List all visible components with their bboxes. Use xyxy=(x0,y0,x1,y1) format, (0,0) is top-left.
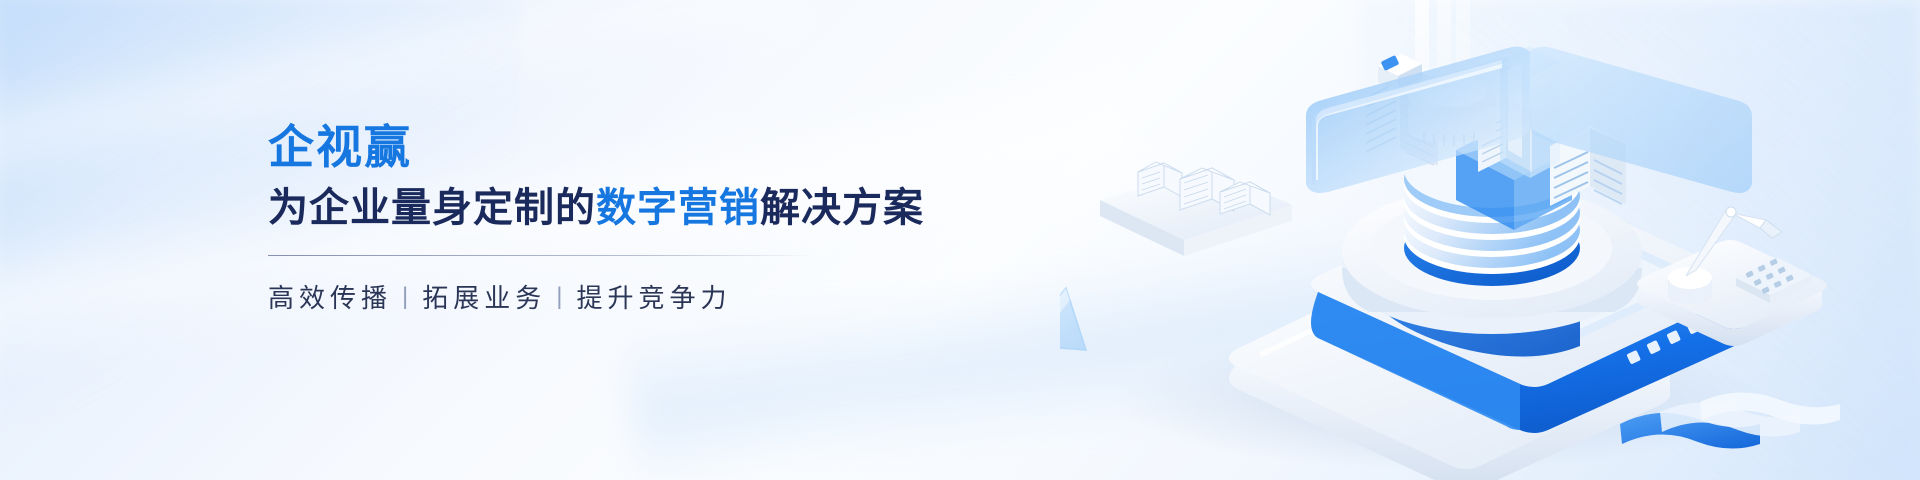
tagline-separator-2: | xyxy=(556,283,562,311)
hero-illustration xyxy=(1060,0,1920,480)
hero-banner: 企视赢 为企业量身定制的数字营销解决方案 高效传播 | 拓展业务 | 提升竞争力 xyxy=(0,0,1920,480)
headline-part-after: 解决方案 xyxy=(760,186,924,230)
tagline-item-3: 提升竞争力 xyxy=(577,278,732,315)
headline-part-before: 为企业量身定制的 xyxy=(268,186,596,230)
brand-title: 企视赢 xyxy=(268,120,968,175)
hero-copy: 企视赢 为企业量身定制的数字营销解决方案 高效传播 | 拓展业务 | 提升竞争力 xyxy=(268,120,968,315)
mini-city-block xyxy=(1100,162,1292,256)
tagline: 高效传播 | 拓展业务 | 提升竞争力 xyxy=(268,278,968,315)
headline-accent: 数字营销 xyxy=(596,186,760,230)
page-title: 为企业量身定制的数字营销解决方案 xyxy=(268,183,968,233)
tagline-separator-1: | xyxy=(402,283,408,311)
glass-triangle xyxy=(1060,288,1086,350)
headline-divider xyxy=(268,255,816,256)
tagline-item-1: 高效传播 xyxy=(268,278,392,315)
tagline-item-2: 拓展业务 xyxy=(422,278,546,315)
